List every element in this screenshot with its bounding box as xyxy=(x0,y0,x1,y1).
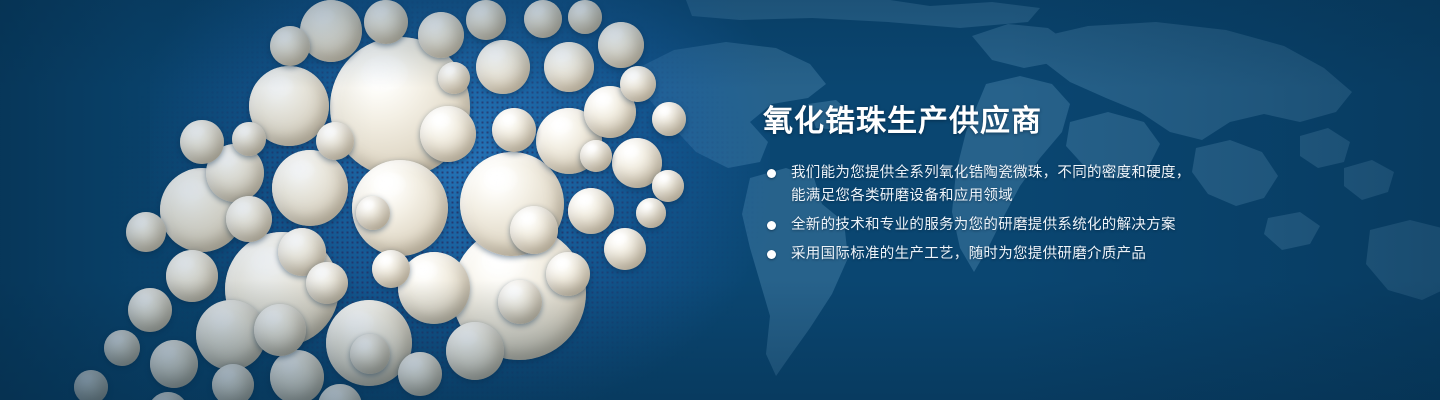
feature-bullet-list: 我们能为您提供全系列氧化锆陶瓷微珠，不同的密度和硬度， 能满足您各类研磨设备和应… xyxy=(763,162,1323,266)
bullet-text-line: 能满足您各类研磨设备和应用领域 xyxy=(791,185,1323,208)
page-title: 氧化锆珠生产供应商 xyxy=(763,104,1323,140)
banner-text-block: 氧化锆珠生产供应商 我们能为您提供全系列氧化锆陶瓷微珠，不同的密度和硬度， 能满… xyxy=(763,104,1323,266)
list-item: 采用国际标准的生产工艺，随时为您提供研磨介质产品 xyxy=(763,243,1323,266)
bullet-dot-icon xyxy=(767,250,776,259)
list-item: 全新的技术和专业的服务为您的研磨提供系统化的解决方案 xyxy=(763,214,1323,237)
bullet-text-line: 我们能为您提供全系列氧化锆陶瓷微珠，不同的密度和硬度， xyxy=(791,162,1323,185)
bullet-text-line: 采用国际标准的生产工艺，随时为您提供研磨介质产品 xyxy=(791,243,1323,266)
list-item: 我们能为您提供全系列氧化锆陶瓷微珠，不同的密度和硬度， 能满足您各类研磨设备和应… xyxy=(763,162,1323,208)
bullet-text-line: 全新的技术和专业的服务为您的研磨提供系统化的解决方案 xyxy=(791,214,1323,237)
hero-banner: 氧化锆珠生产供应商 我们能为您提供全系列氧化锆陶瓷微珠，不同的密度和硬度， 能满… xyxy=(0,0,1440,400)
bullet-dot-icon xyxy=(767,221,776,230)
bullet-dot-icon xyxy=(767,169,776,178)
